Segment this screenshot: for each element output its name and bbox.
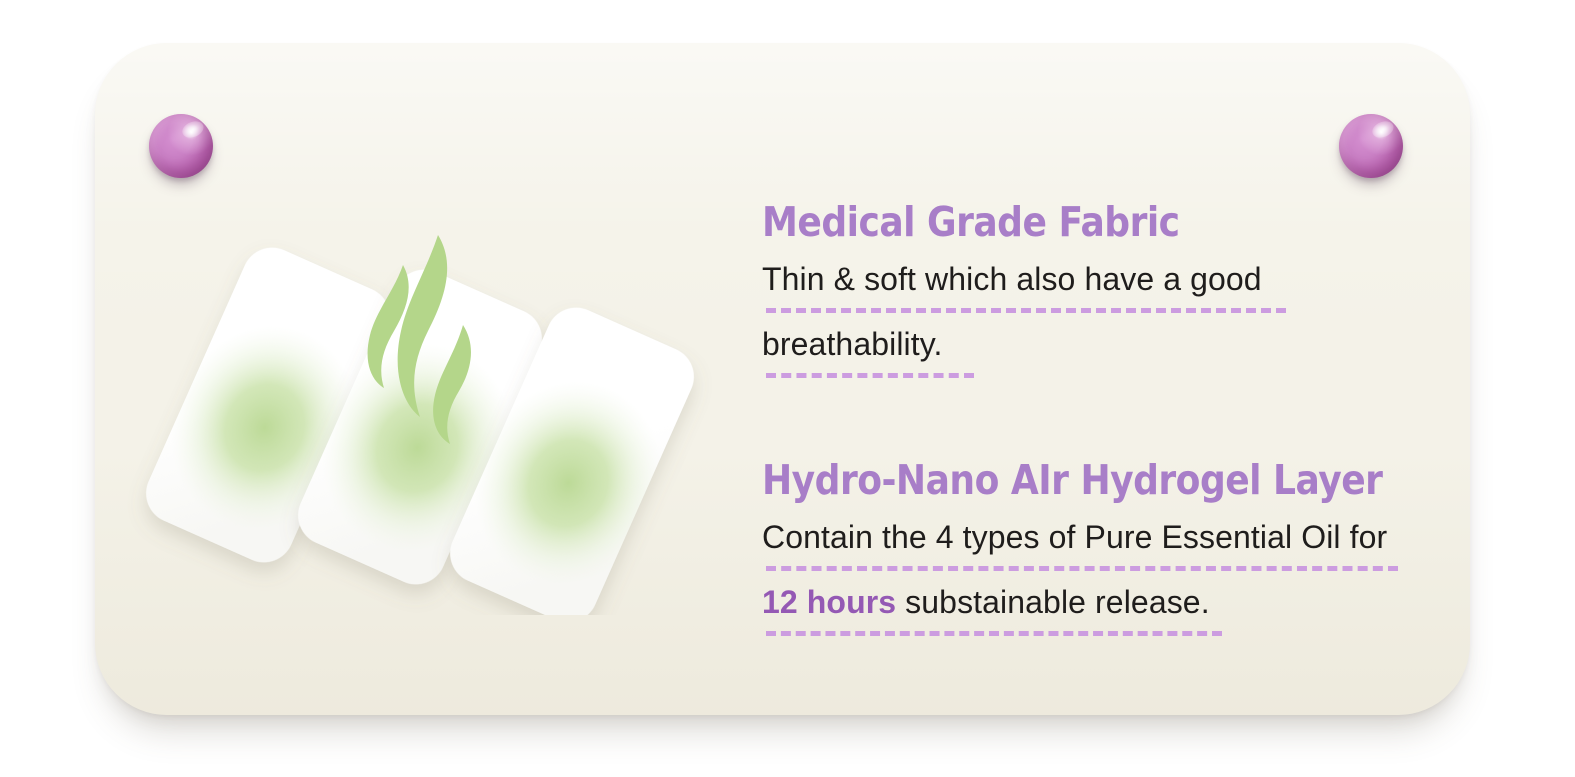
feature-block-hydro-nano-air-hydrogel-layer: Hydro-Nano AIr Hydrogel Layer Contain th… — [762, 458, 1422, 640]
pin-gloss-icon — [180, 119, 206, 141]
pin-gloss-icon — [1370, 119, 1396, 141]
feature-body: Thin & soft which also have a good breat… — [762, 252, 1422, 382]
feature-block-medical-grade-fabric: Medical Grade Fabric Thin & soft which a… — [762, 200, 1422, 382]
feature-highlight-text: 12 hours — [762, 584, 896, 620]
feature-line-text: breathability. — [762, 326, 942, 362]
feature-line-text: Contain the 4 types of Pure Essential Oi… — [762, 519, 1387, 555]
feature-line: breathability. — [762, 317, 1422, 382]
dashed-underline — [766, 631, 1222, 636]
feature-text-column: Medical Grade Fabric Thin & soft which a… — [762, 200, 1422, 640]
feature-heading: Medical Grade Fabric — [762, 200, 1343, 246]
dashed-underline — [766, 566, 1398, 571]
dashed-underline — [766, 373, 974, 378]
feature-line-text: substainable release. — [896, 584, 1210, 620]
pin-left — [149, 114, 213, 178]
pin-right — [1339, 114, 1403, 178]
feature-body: Contain the 4 types of Pure Essential Oi… — [762, 510, 1422, 640]
feature-heading: Hydro-Nano AIr Hydrogel Layer — [762, 458, 1343, 504]
feature-line-text: Thin & soft which also have a good — [762, 261, 1262, 297]
feature-line: 12 hours substainable release. — [762, 575, 1422, 640]
screenshot-stage: Medical Grade Fabric Thin & soft which a… — [0, 0, 1575, 777]
hydrogel-patch-illustration — [120, 215, 740, 615]
feature-line: Thin & soft which also have a good — [762, 252, 1422, 317]
dashed-underline — [766, 308, 1286, 313]
feature-line: Contain the 4 types of Pure Essential Oi… — [762, 510, 1422, 575]
